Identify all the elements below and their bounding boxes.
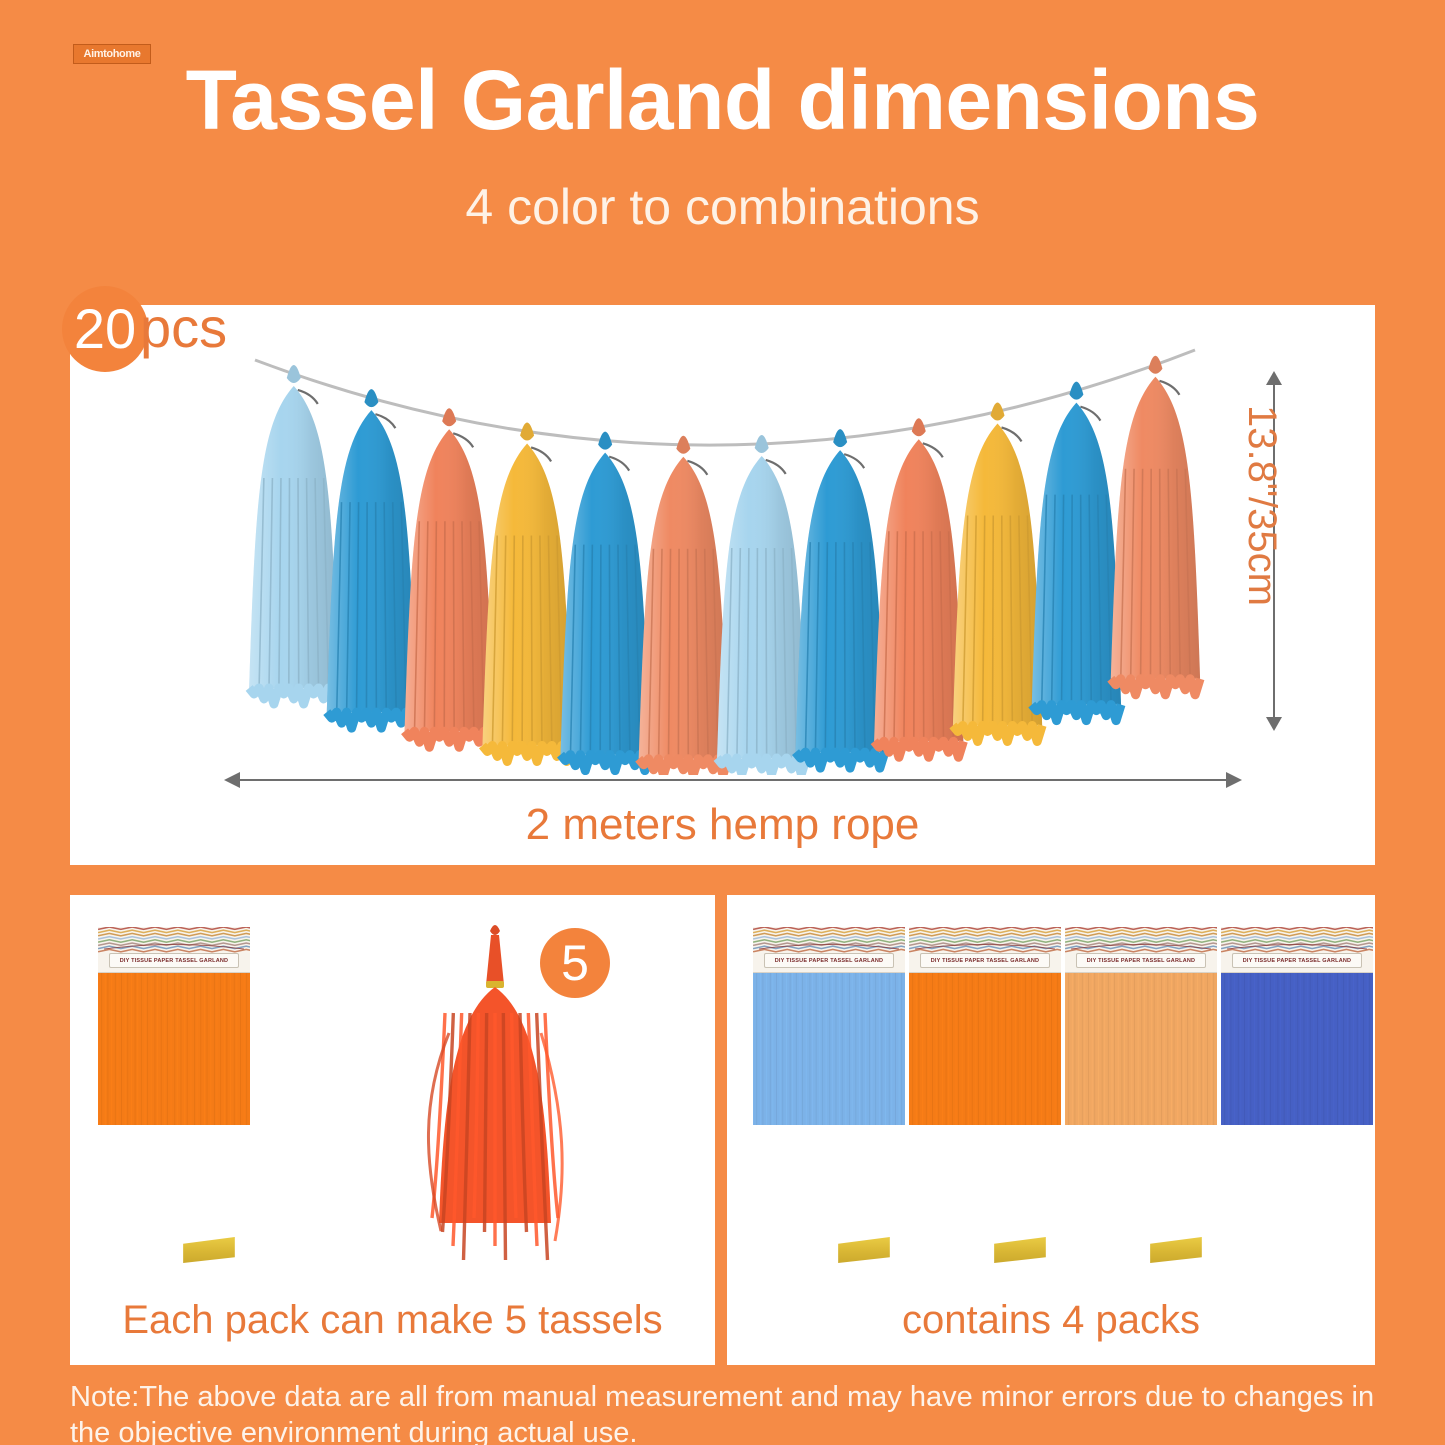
horizontal-arrow-right-icon bbox=[1226, 772, 1242, 788]
vertical-dimension-label: 13.8"/35cm bbox=[1240, 405, 1284, 606]
hemp-rope bbox=[255, 350, 1195, 445]
gold-clip-icon bbox=[838, 1237, 890, 1263]
pack-body bbox=[753, 973, 905, 1275]
pack-label: DIY TISSUE PAPER TASSEL GARLAND bbox=[1076, 953, 1207, 968]
quantity-badge-unit: pcs bbox=[140, 297, 227, 359]
chevron-pattern-icon bbox=[909, 927, 1061, 953]
horizontal-dimension-label: 2 meters hemp rope bbox=[70, 799, 1375, 851]
four-packs-caption: contains 4 packs bbox=[727, 1296, 1375, 1344]
pack-label: DIY TISSUE PAPER TASSEL GARLAND bbox=[920, 953, 1051, 968]
pack-label: DIY TISSUE PAPER TASSEL GARLAND bbox=[1232, 953, 1363, 968]
pack-header: DIY TISSUE PAPER TASSEL GARLAND bbox=[1065, 927, 1217, 973]
fringe-texture bbox=[1221, 973, 1373, 1125]
chevron-pattern-icon bbox=[753, 927, 905, 953]
pack-sheet: DIY TISSUE PAPER TASSEL GARLAND bbox=[1221, 927, 1373, 1275]
chevron-pattern-icon bbox=[1221, 927, 1373, 953]
gold-clip-icon bbox=[1150, 1237, 1202, 1263]
main-product-panel: 13.8"/35cm 2 meters hemp rope bbox=[70, 305, 1375, 865]
footer-note: Note:The above data are all from manual … bbox=[70, 1379, 1380, 1445]
fringe-texture bbox=[1065, 973, 1217, 1125]
vertical-arrow-down-icon bbox=[1266, 717, 1282, 731]
pack-sheet: DIY TISSUE PAPER TASSEL GARLAND bbox=[909, 927, 1061, 1275]
page-subtitle: 4 color to combinations bbox=[0, 176, 1445, 238]
pack-label: DIY TISSUE PAPER TASSEL GARLAND bbox=[109, 953, 240, 968]
pack-sheet: DIY TISSUE PAPER TASSEL GARLAND bbox=[753, 927, 905, 1275]
page-title: Tassel Garland dimensions bbox=[0, 52, 1445, 148]
pack-body bbox=[98, 973, 250, 1275]
fringe-texture bbox=[98, 973, 250, 1125]
single-pack-panel: DIY TISSUE PAPER TASSEL GARLAND bbox=[70, 895, 715, 1365]
pack-body bbox=[909, 973, 1061, 1275]
tassel-garland-illustration bbox=[70, 305, 1375, 775]
pack-body bbox=[1065, 973, 1217, 1275]
pack-header: DIY TISSUE PAPER TASSEL GARLAND bbox=[753, 927, 905, 973]
tassels-per-pack-badge: 5 bbox=[540, 928, 610, 998]
pack-sheet: DIY TISSUE PAPER TASSEL GARLAND bbox=[98, 927, 250, 1275]
horizontal-dimension-line bbox=[238, 779, 1228, 781]
chevron-pattern-icon bbox=[98, 927, 250, 953]
gold-clip-icon bbox=[994, 1237, 1046, 1263]
pack-sheet: DIY TISSUE PAPER TASSEL GARLAND bbox=[1065, 927, 1217, 1275]
fringe-texture bbox=[909, 973, 1061, 1125]
pack-header: DIY TISSUE PAPER TASSEL GARLAND bbox=[98, 927, 250, 973]
quantity-badge: 20 bbox=[62, 286, 148, 372]
fringe-texture bbox=[753, 973, 905, 1125]
single-pack-caption: Each pack can make 5 tassels bbox=[70, 1296, 715, 1344]
pack-label: DIY TISSUE PAPER TASSEL GARLAND bbox=[764, 953, 895, 968]
infographic-page: Aimtohome Tassel Garland dimensions 4 co… bbox=[0, 0, 1445, 1445]
four-packs-panel: DIY TISSUE PAPER TASSEL GARLAND DIY TISS… bbox=[727, 895, 1375, 1365]
pack-header: DIY TISSUE PAPER TASSEL GARLAND bbox=[909, 927, 1061, 973]
chevron-pattern-icon bbox=[1065, 927, 1217, 953]
pack-body bbox=[1221, 973, 1373, 1275]
pack-header: DIY TISSUE PAPER TASSEL GARLAND bbox=[1221, 927, 1373, 973]
gold-clip-icon bbox=[183, 1237, 235, 1263]
